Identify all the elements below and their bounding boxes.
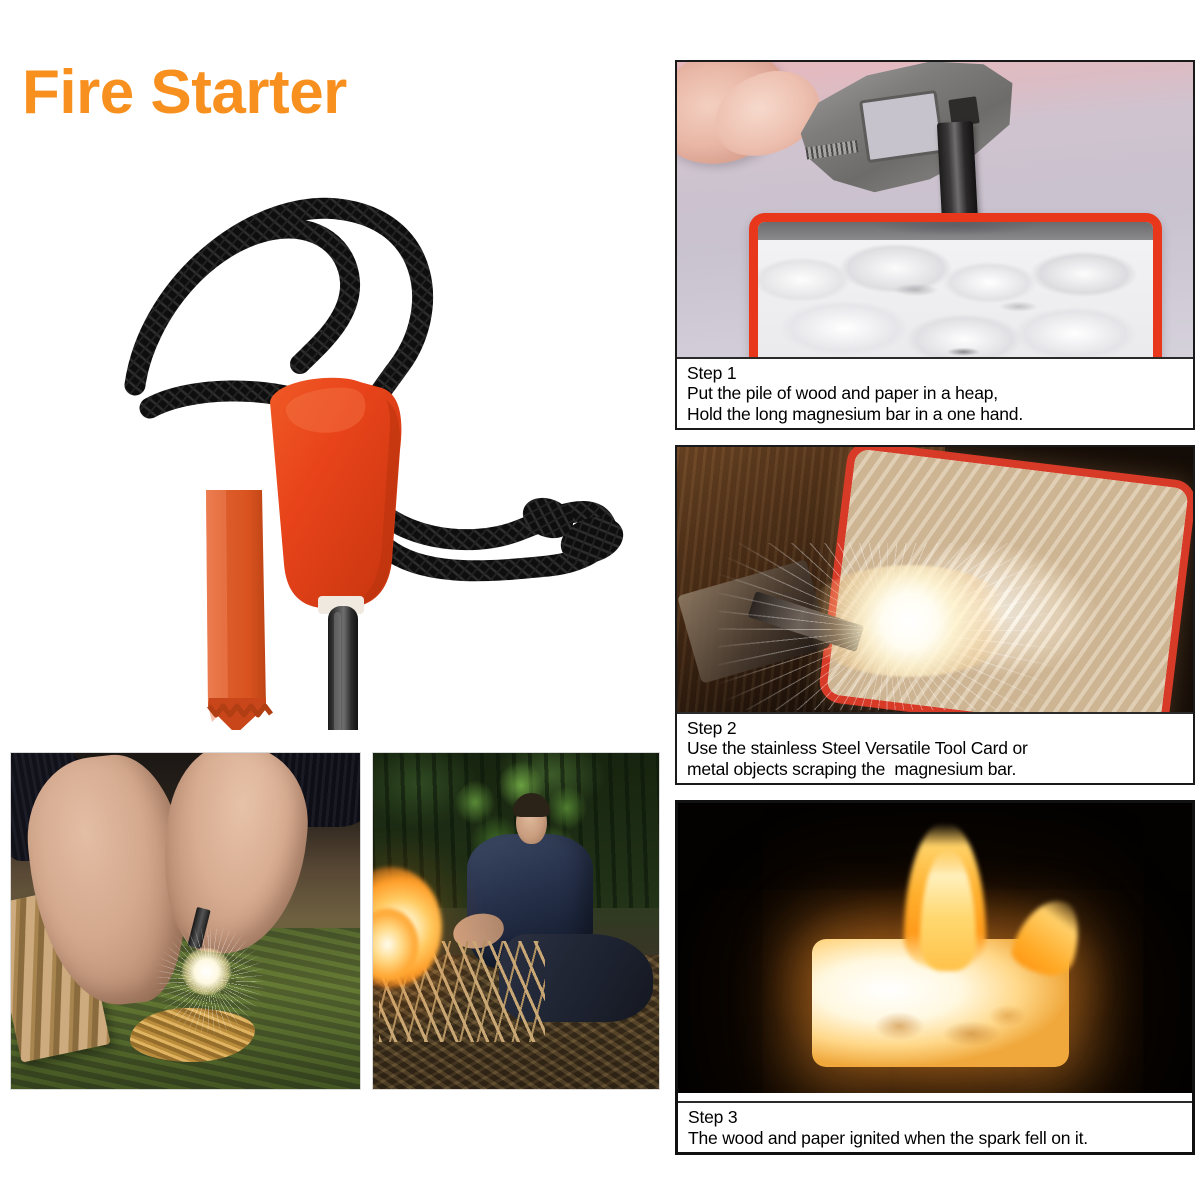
spark-core: [182, 948, 231, 995]
page-title: Fire Starter: [22, 62, 347, 124]
step-2-caption: Step 2 Use the stainless Steel Versatile…: [677, 712, 1193, 783]
striker-blade: [206, 490, 271, 730]
step-1-panel: Step 1 Put the pile of wood and paper in…: [675, 60, 1195, 430]
step-1-caption: Step 1 Put the pile of wood and paper in…: [677, 357, 1193, 428]
step-2-panel: Step 2 Use the stainless Steel Versatile…: [675, 445, 1195, 785]
step-2-photo: [677, 447, 1193, 715]
spark-flash: [801, 565, 1018, 678]
step-3-line-1: The wood and paper ignited when the spar…: [688, 1128, 1192, 1148]
tool-card-hole: [859, 90, 945, 164]
red-tin: [749, 213, 1162, 364]
step-3-caption: Step 3 The wood and paper ignited when t…: [678, 1101, 1192, 1152]
step-1-heading: Step 1: [687, 363, 1193, 383]
field-photo-2-stage: [373, 753, 659, 1089]
step-2-line-1: Use the stainless Steel Versatile Tool C…: [687, 738, 1193, 758]
orange-handle: [270, 378, 401, 614]
tinder-shading: [758, 222, 1153, 364]
ferro-rod: [328, 606, 358, 730]
step-3-heading: Step 3: [688, 1107, 1192, 1127]
field-photo-striking-sparks: [10, 752, 361, 1090]
step-3-panel: Step 3 The wood and paper ignited when t…: [675, 800, 1195, 1155]
step-1-line-2: Hold the long magnesium bar in a one han…: [687, 404, 1193, 424]
step-2-heading: Step 2: [687, 718, 1193, 738]
step-2-line-2: metal objects scraping the magnesium bar…: [687, 759, 1193, 779]
field-photo-1-stage: [11, 753, 360, 1089]
fire-starter-illustration: [0, 150, 660, 730]
step-1-line-1: Put the pile of wood and paper in a heap…: [687, 383, 1193, 403]
field-photo-campfire-shelter: [372, 752, 660, 1090]
step-1-photo: [677, 62, 1193, 364]
hero-product-photo: [0, 150, 660, 730]
step-3-photo: [678, 803, 1192, 1093]
